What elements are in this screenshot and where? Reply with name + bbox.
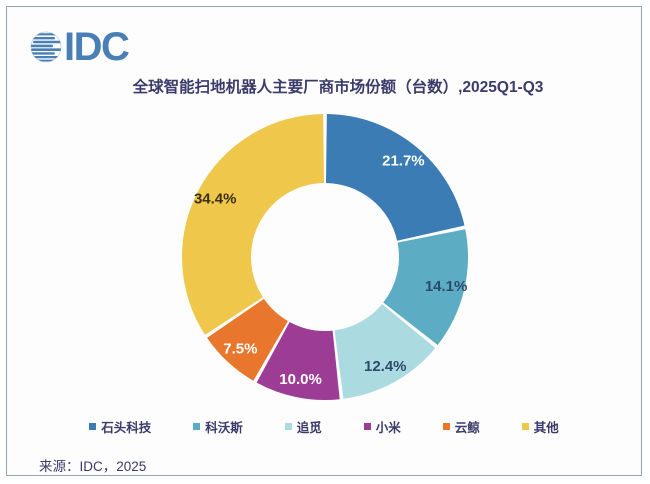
slice-value-label: 21.7% (382, 152, 425, 169)
legend-swatch-icon (522, 423, 529, 430)
legend-swatch-icon (285, 423, 292, 430)
legend-swatch-icon (364, 423, 371, 430)
legend-label: 其他 (534, 417, 559, 436)
logo-wordmark: IDC (64, 27, 128, 67)
globe-icon (29, 30, 63, 64)
legend-label: 云鲸 (455, 417, 480, 436)
legend-swatch-icon (443, 423, 450, 430)
donut-slice (326, 114, 465, 241)
legend-label: 科沃斯 (205, 417, 243, 436)
donut-chart-svg: 21.7%14.1%12.4%10.0%7.5%34.4% (7, 105, 643, 411)
donut-chart: 21.7%14.1%12.4%10.0%7.5%34.4% (7, 105, 643, 411)
slice-value-label: 10.0% (279, 371, 322, 388)
legend-swatch-icon (89, 423, 96, 430)
chart-legend: 石头科技科沃斯追觅小米云鲸其他 (7, 417, 641, 436)
legend-item[interactable]: 追觅 (285, 417, 322, 436)
legend-label: 石头科技 (101, 417, 151, 436)
slice-value-label: 12.4% (364, 358, 407, 375)
source-note: 来源：IDC，2025 (39, 455, 146, 475)
legend-item[interactable]: 石头科技 (89, 417, 151, 436)
slice-value-label: 14.1% (425, 278, 468, 295)
legend-swatch-icon (193, 423, 200, 430)
slice-value-label: 7.5% (223, 340, 257, 357)
legend-item[interactable]: 其他 (522, 417, 559, 436)
chart-title: 全球智能扫地机器人主要厂商市场份额（台数）,2025Q1-Q3 (7, 75, 641, 97)
legend-item[interactable]: 云鲸 (443, 417, 480, 436)
chart-card: IDC 全球智能扫地机器人主要厂商市场份额（台数）,2025Q1-Q3 21.7… (6, 6, 642, 476)
legend-label: 追觅 (297, 417, 322, 436)
slice-value-label: 34.4% (194, 190, 237, 207)
legend-label: 小米 (376, 417, 401, 436)
legend-item[interactable]: 科沃斯 (193, 417, 243, 436)
idc-logo: IDC (29, 25, 128, 69)
donut-slice (182, 114, 324, 335)
legend-item[interactable]: 小米 (364, 417, 401, 436)
